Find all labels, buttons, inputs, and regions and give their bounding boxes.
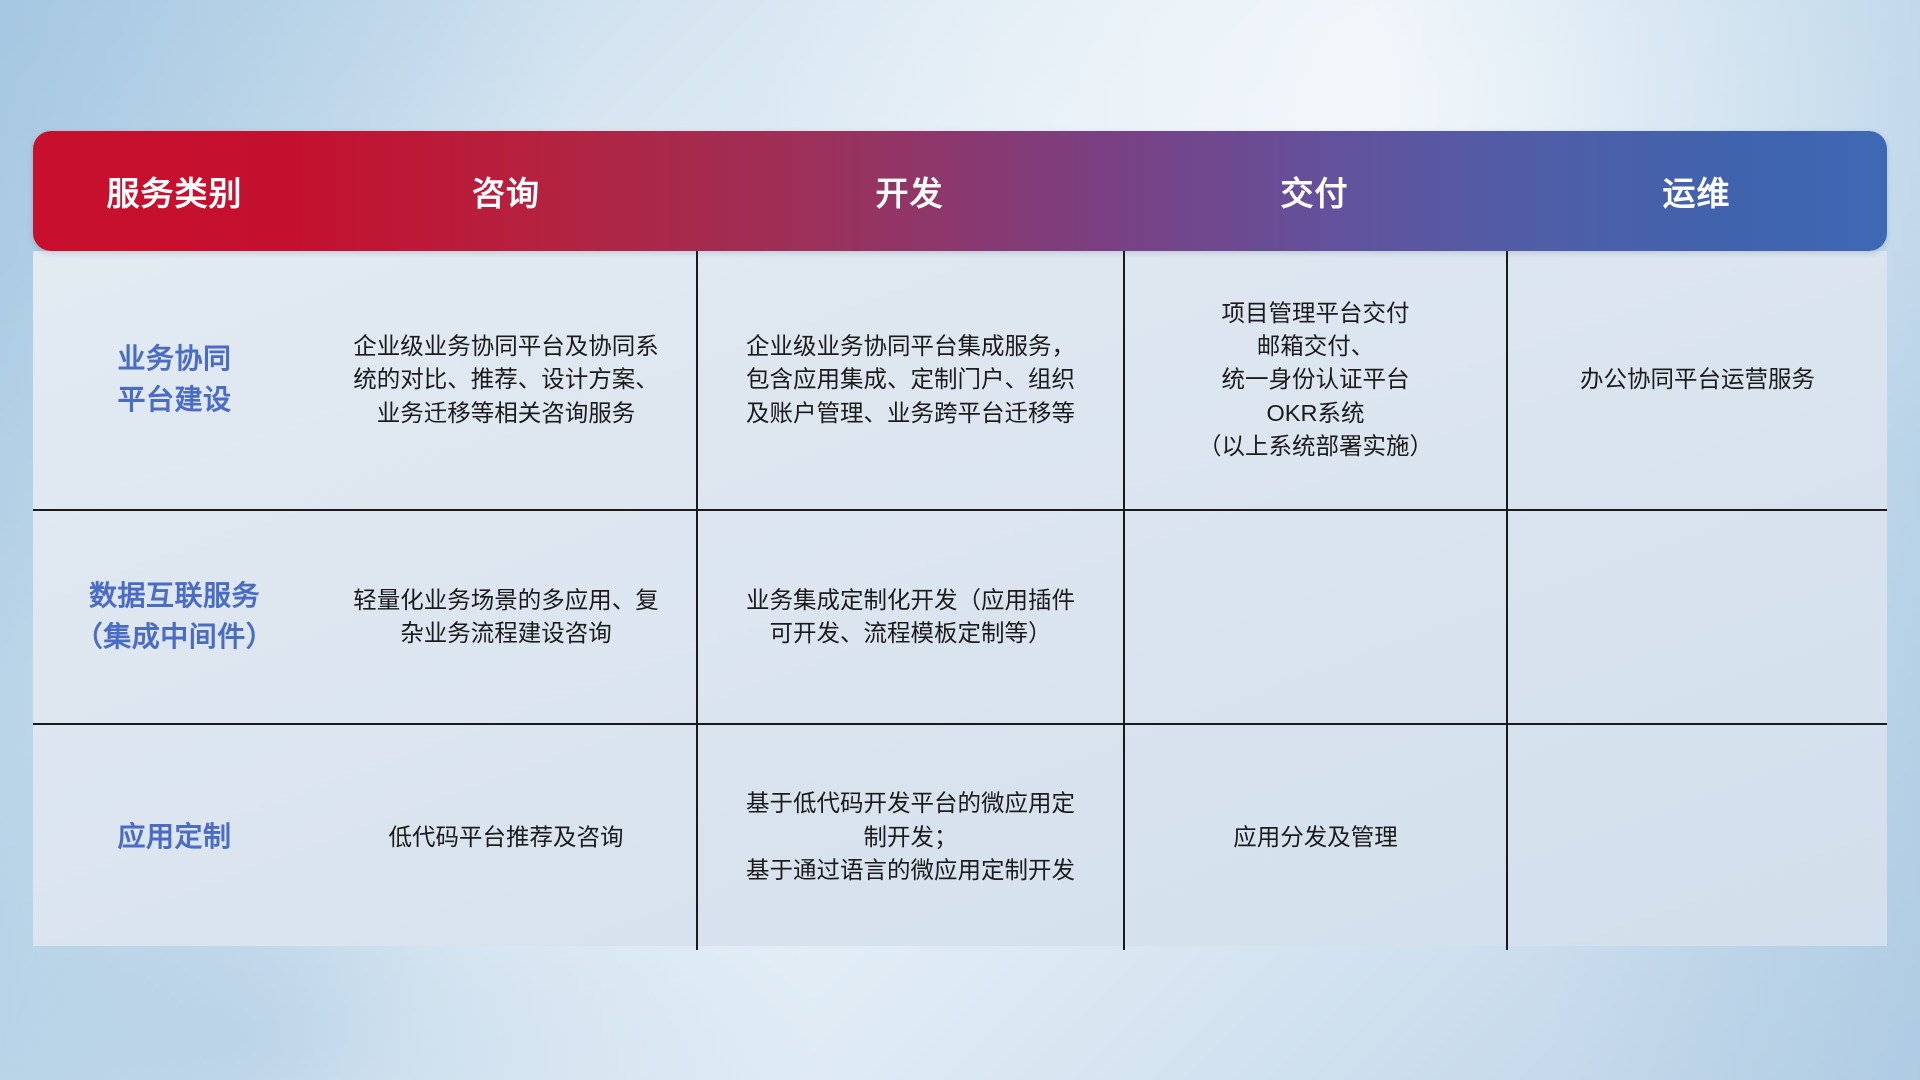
- cell-development: 业务集成定制化开发（应用插件可开发、流程模板定制等）: [696, 511, 1123, 723]
- header-label-service-category: 服务类别: [107, 167, 243, 215]
- table-header-row: 服务类别 咨询 开发 交付 运维: [33, 131, 1887, 251]
- cell-development: 企业级业务协同平台集成服务，包含应用集成、定制门户、组织及账户管理、业务跨平台迁…: [696, 251, 1123, 509]
- table-row: 业务协同平台建设 企业级业务协同平台及协同系统的对比、推荐、设计方案、业务迁移等…: [33, 251, 1887, 511]
- table-row: 应用定制 低代码平台推荐及咨询 基于低代码开发平台的微应用定制开发；基于通过语言…: [33, 725, 1887, 950]
- table-header-cell-delivery: 交付: [1123, 167, 1506, 215]
- cell-consulting: 轻量化业务场景的多应用、复杂业务流程建设咨询: [316, 511, 696, 723]
- cell-operations: 办公协同平台运营服务: [1506, 251, 1887, 509]
- header-label-development: 开发: [876, 167, 944, 215]
- header-label-delivery: 交付: [1281, 167, 1349, 215]
- cell-delivery: 应用分发及管理: [1123, 725, 1506, 950]
- table-header-cell-service-category: 服务类别: [33, 167, 316, 215]
- cell-development: 基于低代码开发平台的微应用定制开发；基于通过语言的微应用定制开发: [696, 725, 1123, 950]
- table-header-cell-development: 开发: [696, 167, 1123, 215]
- cell-operations: [1506, 725, 1887, 950]
- cell-consulting: 低代码平台推荐及咨询: [316, 725, 696, 950]
- row-category-label: 数据互联服务（集成中间件）: [33, 511, 316, 723]
- table-header-cell-operations: 运维: [1506, 167, 1887, 215]
- header-label-consulting: 咨询: [472, 167, 540, 215]
- cell-delivery: [1123, 511, 1506, 723]
- cell-consulting: 企业级业务协同平台及协同系统的对比、推荐、设计方案、业务迁移等相关咨询服务: [316, 251, 696, 509]
- table-header-cell-consulting: 咨询: [316, 167, 696, 215]
- slide-canvas: 服务类别 咨询 开发 交付 运维 业务协同平台建设 企业级业务协同平台及协同系统…: [0, 0, 1920, 1080]
- row-category-label: 业务协同平台建设: [33, 251, 316, 509]
- table-body: 业务协同平台建设 企业级业务协同平台及协同系统的对比、推荐、设计方案、业务迁移等…: [33, 251, 1887, 946]
- header-label-operations: 运维: [1663, 167, 1731, 215]
- row-category-label: 应用定制: [33, 725, 316, 950]
- table-row: 数据互联服务（集成中间件） 轻量化业务场景的多应用、复杂业务流程建设咨询 业务集…: [33, 511, 1887, 725]
- service-matrix-table: 服务类别 咨询 开发 交付 运维 业务协同平台建设 企业级业务协同平台及协同系统…: [33, 131, 1887, 946]
- cell-delivery: 项目管理平台交付邮箱交付、统一身份认证平台OKR系统（以上系统部署实施）: [1123, 251, 1506, 509]
- cell-operations: [1506, 511, 1887, 723]
